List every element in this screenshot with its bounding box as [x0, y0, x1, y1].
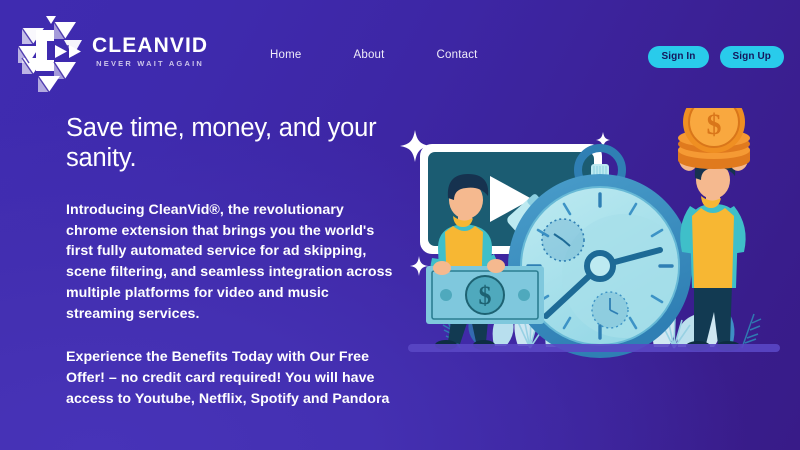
gold-coin-stack: $ [678, 108, 750, 169]
brand-name: CLEANVID [92, 35, 208, 56]
hero-paragraph-offer: Experience the Benefits Today with Our F… [66, 347, 398, 410]
brand-logo[interactable]: CLEANVID NEVER WAIT AGAIN [14, 8, 208, 92]
hero-paragraph-intro: Introducing CleanVid®, the revolutionary… [66, 200, 398, 325]
landing-page: CLEANVID NEVER WAIT AGAIN Home About Con… [0, 0, 800, 450]
sign-up-button[interactable]: Sign Up [720, 46, 784, 68]
hexagon-c-play-logo-icon [14, 8, 86, 92]
stopwatch-subdial-left [542, 219, 584, 261]
main-navigation: Home About Contact [270, 49, 478, 61]
auth-buttons: Sign In Sign Up [648, 46, 784, 68]
nav-item-contact[interactable]: Contact [437, 49, 478, 61]
brand-wordmark: CLEANVID NEVER WAIT AGAIN [92, 33, 208, 68]
stopwatch-subdial-bottom [592, 292, 628, 328]
hero-copy: Save time, money, and your sanity. Intro… [66, 114, 398, 410]
svg-text:$: $ [479, 281, 492, 310]
page-title: Save time, money, and your sanity. [66, 114, 398, 174]
brand-tagline: NEVER WAIT AGAIN [92, 60, 208, 68]
nav-item-home[interactable]: Home [270, 49, 301, 61]
svg-text:$: $ [707, 108, 722, 141]
sign-in-button[interactable]: Sign In [648, 46, 708, 68]
nav-item-about[interactable]: About [353, 49, 384, 61]
save-time-and-money-illustration: $ [398, 108, 800, 363]
ground-line [408, 344, 780, 352]
site-header: CLEANVID NEVER WAIT AGAIN Home About Con… [0, 0, 800, 112]
